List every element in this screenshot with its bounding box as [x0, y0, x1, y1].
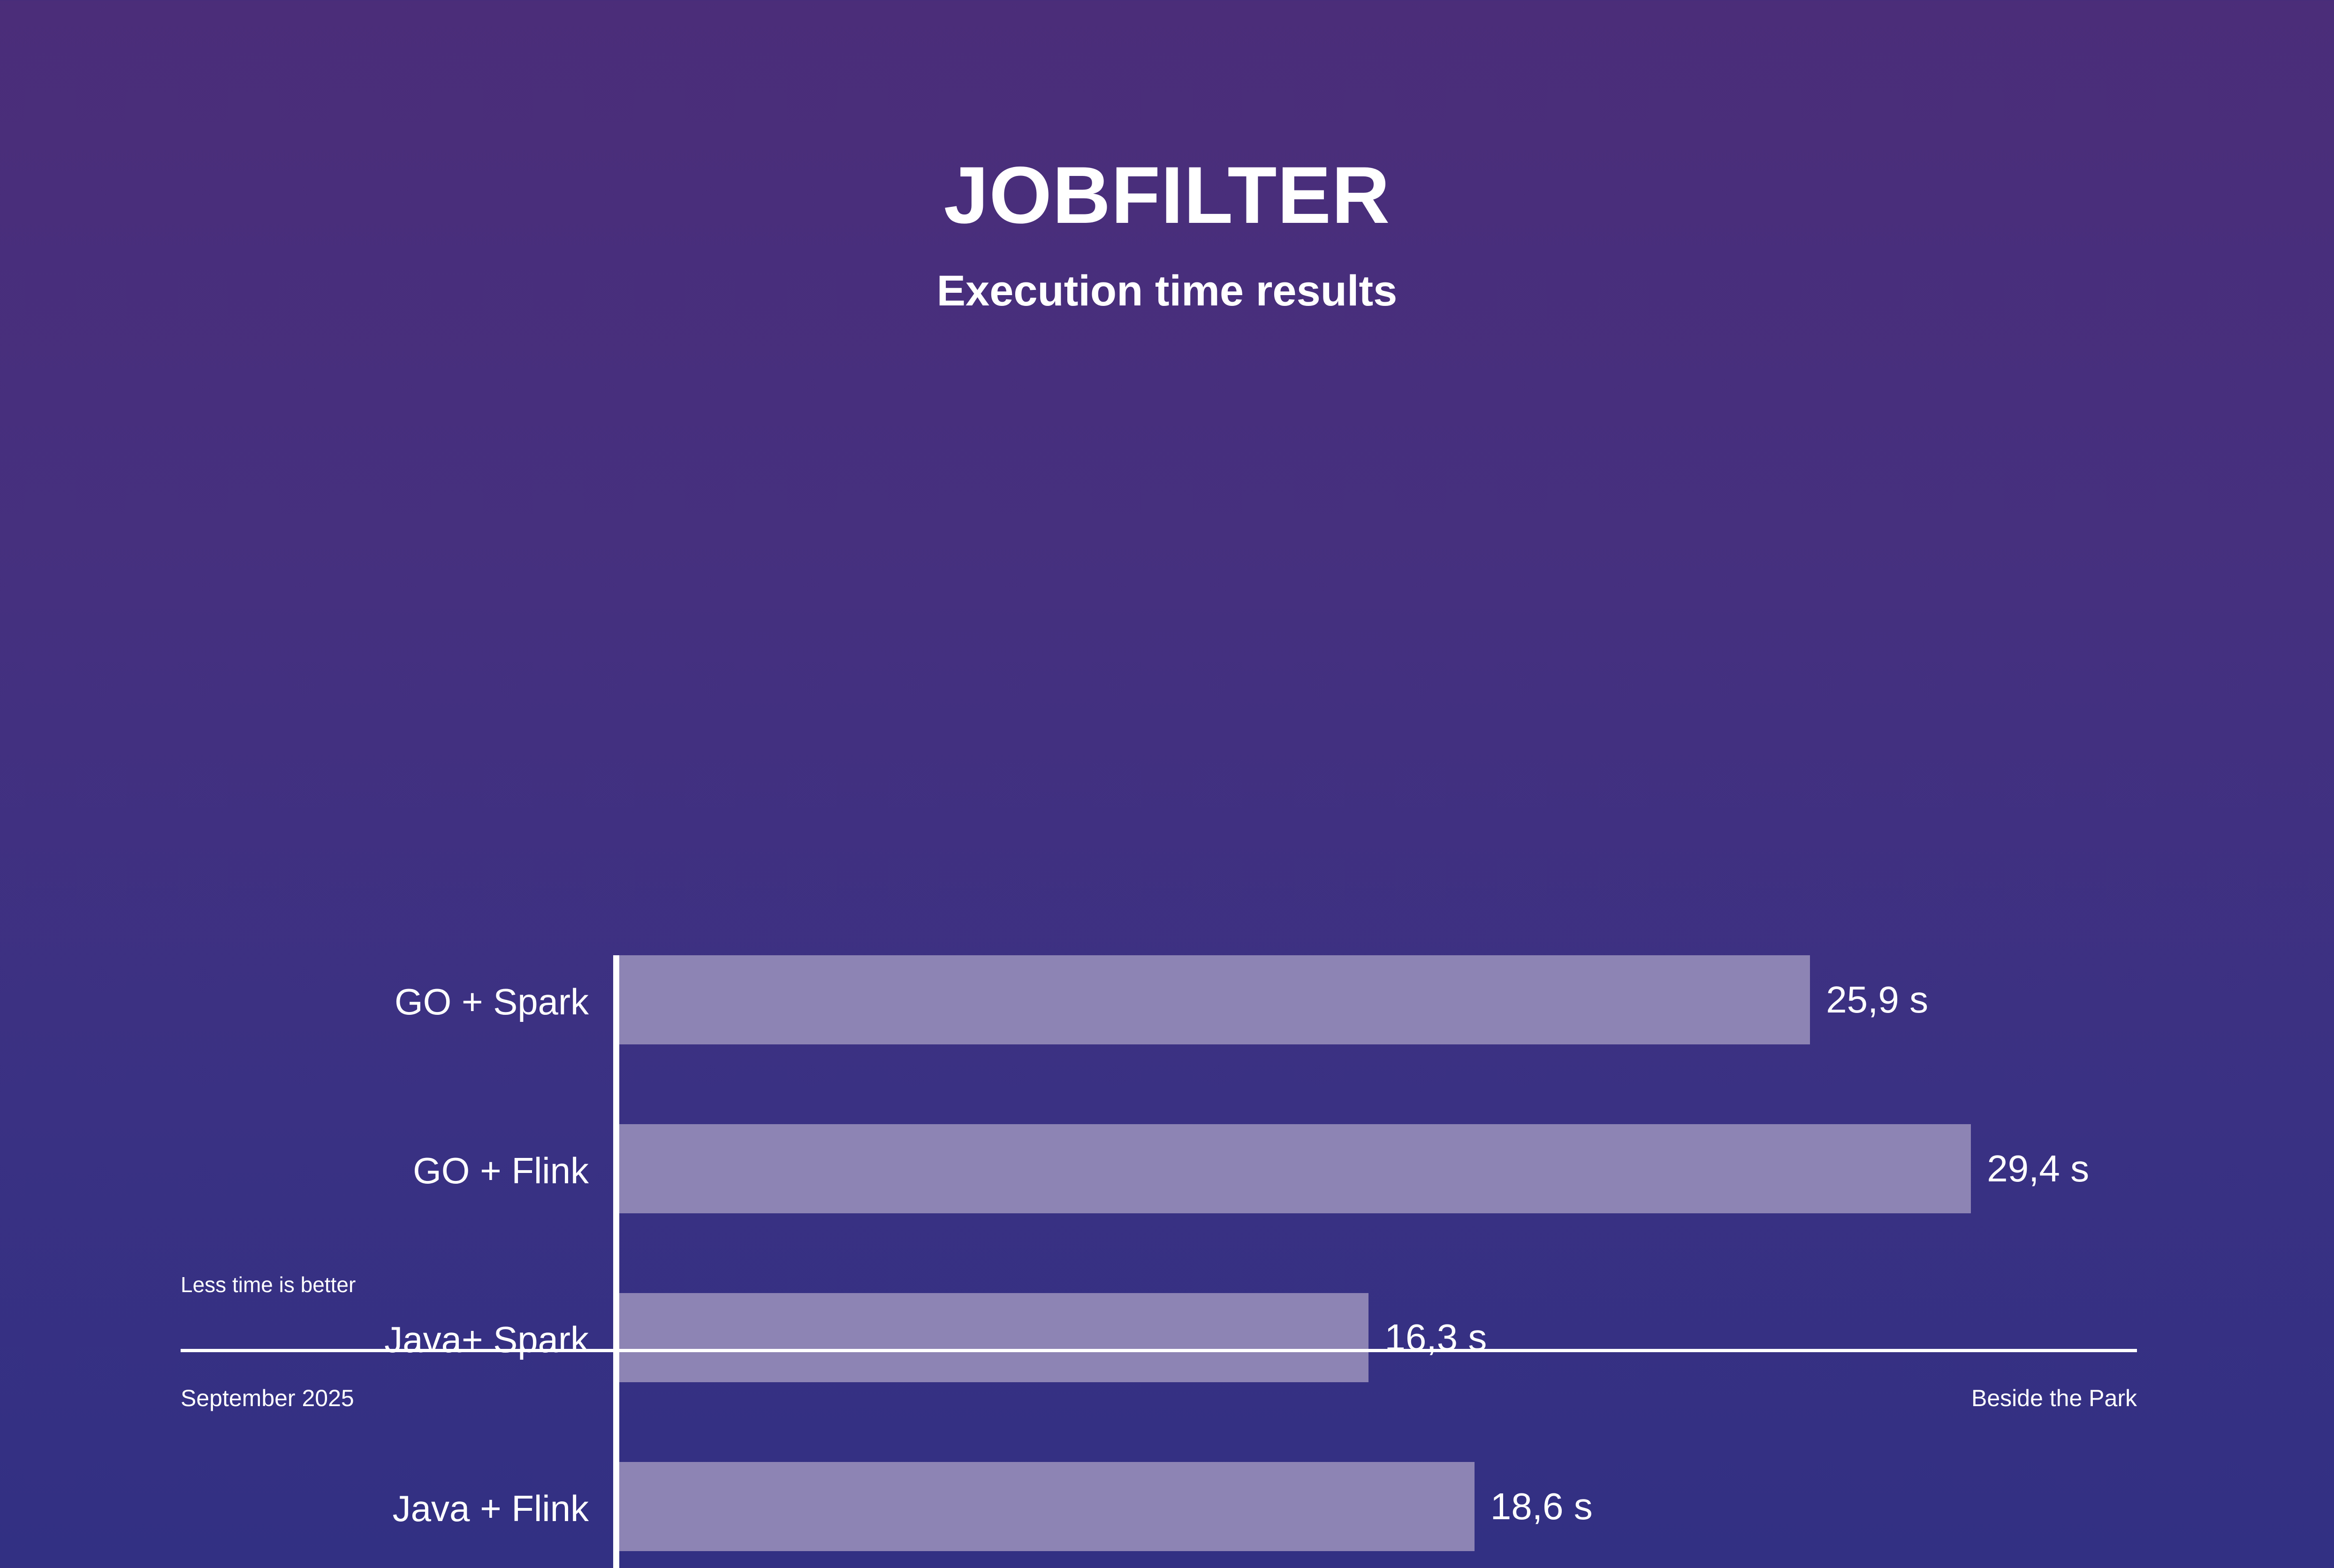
chart-footer: September 2025 Beside the Park — [181, 1386, 2137, 1410]
footer-divider — [181, 1349, 2137, 1352]
bar-track: 25,9 s — [619, 955, 1928, 1044]
bar-fill — [619, 1462, 1475, 1551]
bar-row: GO + Flink29,4 s — [0, 1124, 2334, 1293]
bar-value-label: 29,4 s — [1987, 1150, 2089, 1187]
chart-footnote: Less time is better — [181, 1274, 356, 1295]
bar-fill — [619, 1293, 1368, 1382]
footer-date: September 2025 — [181, 1386, 354, 1410]
page-title: JOBFILTER — [0, 155, 2334, 236]
bar-row: Java + Flink18,6 s — [0, 1462, 2334, 1568]
bar-category-label: Java+ Spark — [0, 1321, 589, 1358]
bar-value-label: 18,6 s — [1490, 1488, 1593, 1525]
bar-category-label: Java + Flink — [0, 1490, 589, 1527]
bar-track: 16,3 s — [619, 1293, 1487, 1382]
chart-subtitle: Execution time results — [0, 269, 2334, 312]
bar-value-label: 25,9 s — [1826, 981, 1928, 1019]
footer-source: Beside the Park — [1971, 1386, 2137, 1410]
bar-category-label: GO + Spark — [0, 983, 589, 1020]
bar-row: Java+ Spark16,3 s — [0, 1293, 2334, 1462]
bar-track: 29,4 s — [619, 1124, 2089, 1213]
bar-fill — [619, 955, 1810, 1044]
bar-category-label: GO + Flink — [0, 1152, 589, 1189]
bar-list: GO + Spark25,9 sGO + Flink29,4 sJava+ Sp… — [0, 955, 2334, 1568]
bar-chart: GO + Spark25,9 sGO + Flink29,4 sJava+ Sp… — [0, 420, 2334, 1112]
bar-fill — [619, 1124, 1971, 1213]
bar-row: GO + Spark25,9 s — [0, 955, 2334, 1124]
bar-track: 18,6 s — [619, 1462, 1593, 1551]
chart-header: JOBFILTER Execution time results — [0, 0, 2334, 312]
